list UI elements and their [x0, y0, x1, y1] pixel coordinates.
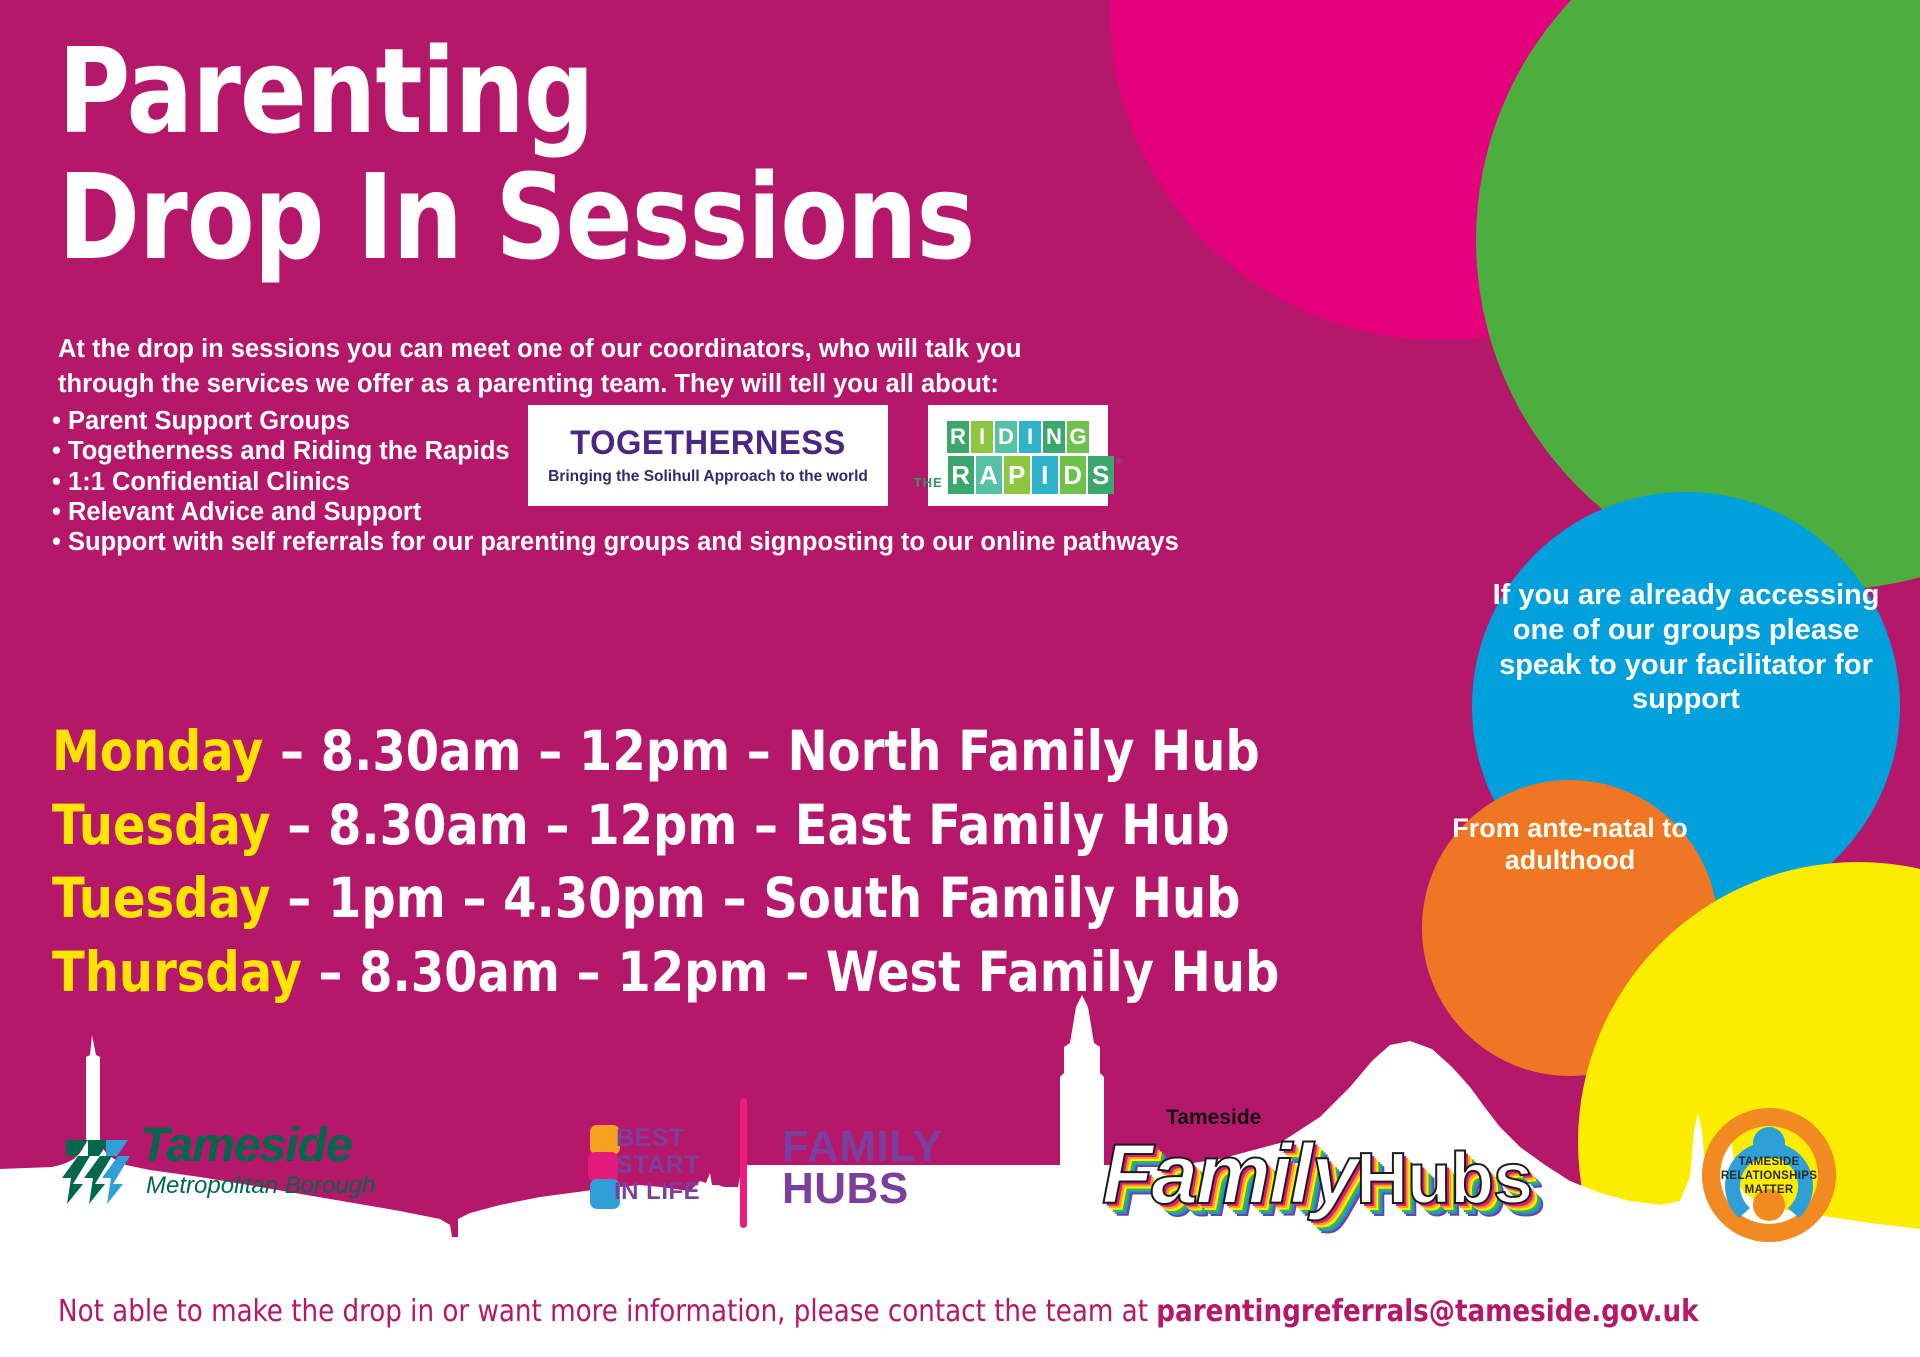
- schedule-detail: – 8.30am – 12pm – North Family Hub: [263, 719, 1259, 783]
- poster-canvas: Parenting Drop In Sessions At the drop i…: [0, 0, 1920, 1357]
- tameside-family-hubs-logo: Tameside FamilyHubs: [1102, 1100, 1502, 1240]
- schedule-row: Tuesday – 1pm – 4.30pm – South Family Hu…: [52, 862, 1197, 936]
- tameside-subtitle: Metropolitan Borough: [146, 1172, 375, 1200]
- tameside-zigzag-icon: [62, 1130, 136, 1206]
- tfh-wordmark: FamilyHubs: [1102, 1126, 1532, 1223]
- tfh-family-word: Family: [1102, 1127, 1356, 1221]
- tameside-wordmark: Tameside: [140, 1118, 352, 1173]
- footer-contact: Not able to make the drop in or want mor…: [58, 1294, 1699, 1329]
- relationships-matter-text: TAMESIDE RELATIONSHIPS MATTER: [1712, 1155, 1826, 1197]
- trm-line-3: MATTER: [1712, 1183, 1826, 1197]
- schedule-row: Tuesday – 8.30am – 12pm – East Family Hu…: [52, 789, 1197, 863]
- logo-divider: [740, 1098, 747, 1228]
- title-line-2: Drop In Sessions: [58, 154, 1081, 280]
- rapids-the-label: THE: [914, 475, 946, 494]
- schedule-day: Monday: [52, 719, 263, 783]
- callout-text-facilitator: If you are already accessing one of our …: [1492, 578, 1880, 717]
- family-hubs-logo: FAMILY HUBS: [782, 1126, 942, 1210]
- family-hubs-line-1: FAMILY: [782, 1126, 942, 1168]
- schedule-detail: – 8.30am – 12pm – East Family Hub: [271, 793, 1230, 857]
- family-hubs-line-2: HUBS: [782, 1168, 942, 1210]
- page-title: Parenting Drop In Sessions: [58, 28, 1081, 281]
- contact-email[interactable]: parentingreferrals@tameside.gov.uk: [1156, 1294, 1698, 1329]
- relationships-matter-logo: TAMESIDE RELATIONSHIPS MATTER: [1694, 1100, 1844, 1250]
- tfh-hubs-word: Hubs: [1356, 1139, 1532, 1219]
- schedule-day: Tuesday: [52, 866, 271, 930]
- partner-logo-strip: Tameside Metropolitan Borough BEST START…: [0, 1090, 1920, 1265]
- tameside-council-logo: Tameside Metropolitan Borough: [62, 1112, 382, 1217]
- rapids-line-2: THERAPIDS®: [914, 456, 1123, 494]
- bsil-line-1: BEST: [616, 1124, 685, 1153]
- schedule-detail: – 1pm – 4.30pm – South Family Hub: [271, 866, 1241, 930]
- rapids-line-1: RIDING: [947, 421, 1089, 453]
- schedule-day: Tuesday: [52, 793, 271, 857]
- callout-text-age-range: From ante-natal to adulthood: [1442, 812, 1698, 877]
- togetherness-tagline: Bringing the Solihull Approach to the wo…: [528, 468, 888, 486]
- schedule-row: Monday – 8.30am – 12pm – North Family Hu…: [52, 715, 1197, 789]
- bsil-line-3: IN LIFE: [614, 1178, 700, 1206]
- best-start-in-life-logo: BEST START IN LIFE: [588, 1122, 728, 1212]
- trm-line-1: TAMESIDE: [1712, 1155, 1826, 1169]
- title-line-1: Parenting: [58, 28, 1081, 154]
- trm-line-2: RELATIONSHIPS: [1712, 1169, 1826, 1183]
- footer-text: Not able to make the drop in or want mor…: [58, 1294, 1156, 1329]
- togetherness-logo: TOGETHERNESS Bringing the Solihull Appro…: [528, 405, 888, 506]
- riding-the-rapids-logo: RIDING THERAPIDS®: [928, 405, 1108, 506]
- togetherness-wordmark: TOGETHERNESS: [535, 424, 881, 463]
- intro-paragraph: At the drop in sessions you can meet one…: [58, 332, 1123, 402]
- list-item: Support with self referrals for our pare…: [52, 527, 1142, 557]
- bsil-line-2: START: [616, 1151, 700, 1180]
- rapids-trademark: ®: [1116, 456, 1123, 466]
